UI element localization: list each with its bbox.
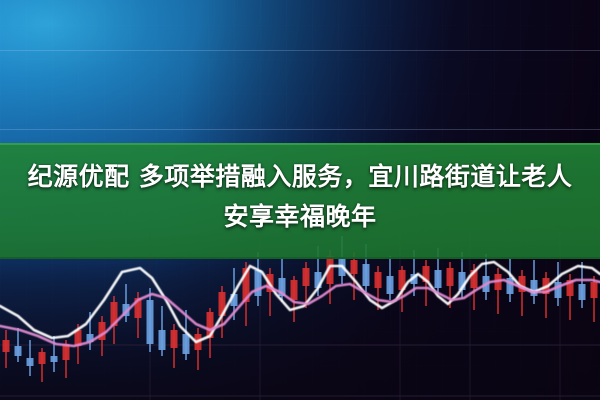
title-band — [0, 143, 600, 259]
band-top-edge — [0, 143, 600, 145]
banner-image: 纪源优配 多项举措融入服务，宜川路街道让老人 安享幸福晚年 — [0, 0, 600, 400]
band-bottom-edge — [0, 257, 600, 259]
